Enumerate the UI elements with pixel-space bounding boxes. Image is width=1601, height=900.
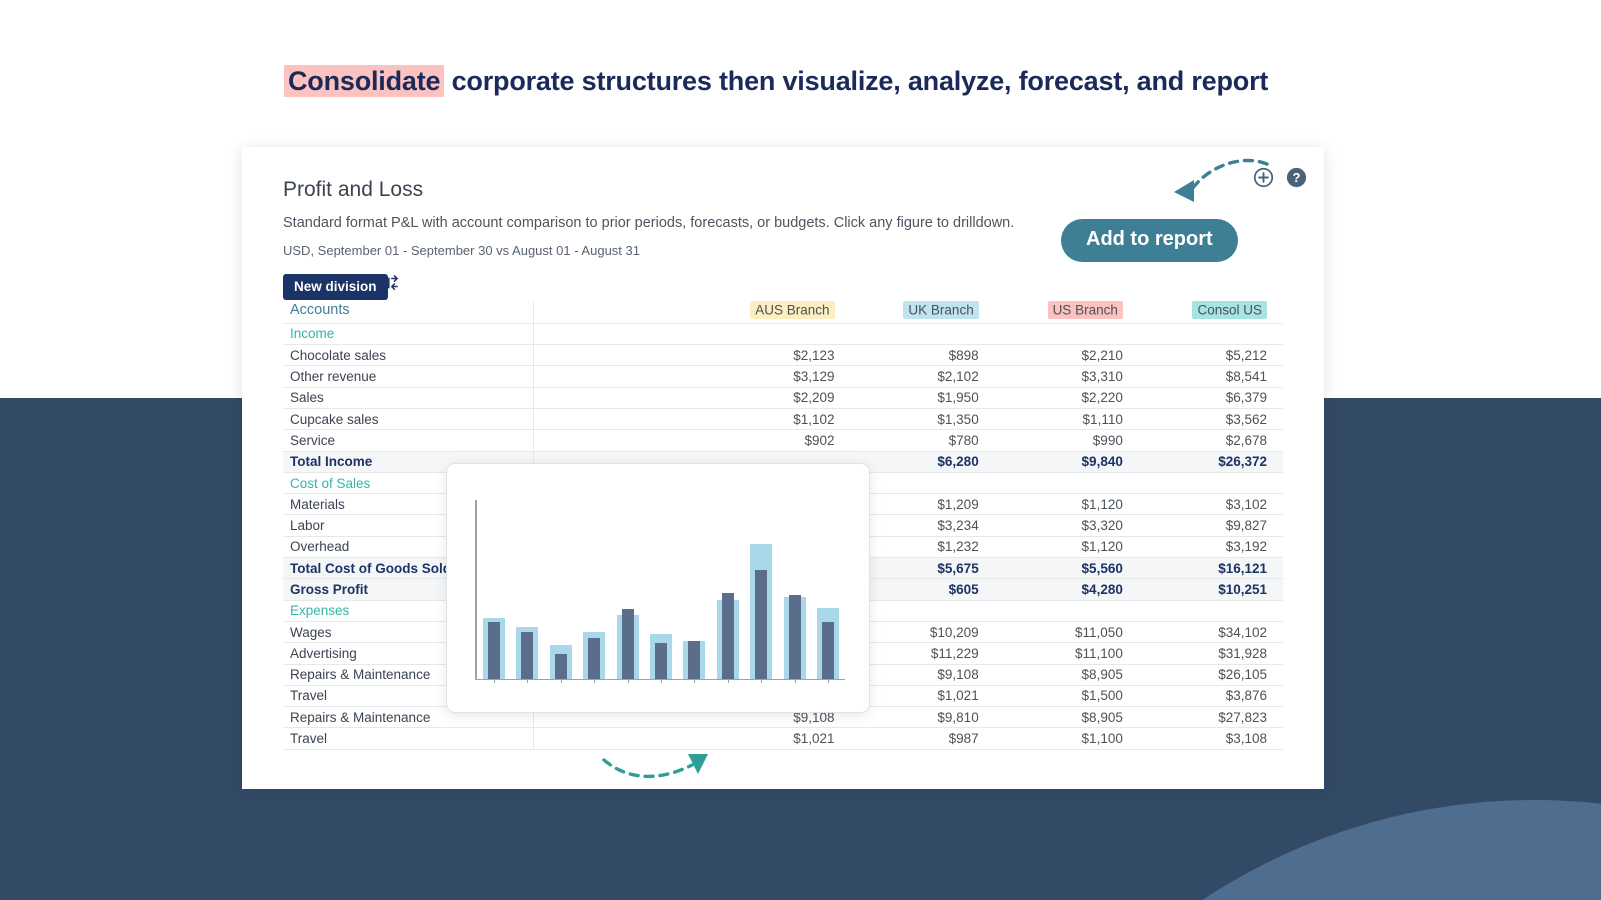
svg-text:?: ? (1292, 170, 1300, 185)
row-value-cell[interactable]: $11,050 (995, 621, 1139, 642)
chart-x-tick (561, 679, 562, 683)
row-value-cell[interactable]: $6,379 (1139, 387, 1283, 408)
row-value-cell[interactable]: $3,310 (995, 366, 1139, 387)
row-value-cell[interactable]: $2,102 (851, 366, 995, 387)
row-value-cell[interactable]: $1,102 (706, 408, 850, 429)
row-value-cell[interactable]: $3,102 (1139, 494, 1283, 515)
chart-bar-group (617, 501, 639, 679)
chart-bar-prior (555, 654, 567, 679)
page-root: Consolidate corporate structures then vi… (0, 0, 1601, 900)
row-label: Travel (283, 728, 533, 749)
table-row[interactable]: Income (283, 323, 1283, 344)
row-value-cell[interactable]: $5,560 (995, 558, 1139, 579)
chart-bar-group (683, 501, 705, 679)
row-value-cell[interactable]: $987 (851, 728, 995, 749)
row-value-cell[interactable]: $1,100 (995, 728, 1139, 749)
row-value-cell[interactable]: $1,120 (995, 494, 1139, 515)
row-value-cell[interactable]: $780 (851, 430, 995, 451)
chart-bars (477, 501, 845, 679)
row-spacer-cell (533, 728, 706, 749)
chart-bar-group (817, 501, 839, 679)
chart-bar-group (750, 501, 772, 679)
row-value-cell[interactable]: $2,678 (1139, 430, 1283, 451)
swap-columns-icon[interactable] (381, 275, 399, 291)
chart-x-tick (728, 679, 729, 683)
chart-bar-prior (588, 638, 600, 679)
page-title: Profit and Loss (283, 178, 423, 202)
row-value-cell[interactable] (1139, 472, 1283, 493)
row-value-cell[interactable]: $10,209 (851, 621, 995, 642)
row-value-cell[interactable]: $4,280 (995, 579, 1139, 600)
chart-x-tick (628, 679, 629, 683)
chart-bar-group (650, 501, 672, 679)
chart-bar-prior (755, 570, 767, 678)
row-value-cell[interactable] (851, 323, 995, 344)
chart-x-tick (694, 679, 695, 683)
row-value-cell[interactable] (706, 323, 850, 344)
row-spacer-cell (533, 430, 706, 451)
new-division-button[interactable]: New division (283, 274, 388, 300)
chart-bar-prior (488, 622, 500, 679)
row-value-cell[interactable]: $1,120 (995, 536, 1139, 557)
help-circle-icon[interactable]: ? (1286, 167, 1307, 188)
chart-bar-prior (688, 641, 700, 678)
chart-x-tick (661, 679, 662, 683)
row-value-cell[interactable]: $27,823 (1139, 707, 1283, 728)
row-value-cell[interactable]: $9,840 (995, 451, 1139, 472)
row-value-cell[interactable]: $16,121 (1139, 558, 1283, 579)
row-value-cell[interactable]: $6,280 (851, 451, 995, 472)
row-value-cell[interactable]: $5,675 (851, 558, 995, 579)
table-header-row: Accounts AUS Branch UK Branch US Branch … (283, 302, 1283, 323)
pointer-arrow-add-to-report (1122, 152, 1272, 212)
row-label: Chocolate sales (283, 345, 533, 366)
chart-x-axis (475, 679, 845, 681)
chart-bar-prior (655, 643, 667, 678)
row-value-cell[interactable]: $1,950 (851, 387, 995, 408)
row-value-cell[interactable]: $1,110 (995, 408, 1139, 429)
row-value-cell[interactable]: $1,232 (851, 536, 995, 557)
row-value-cell[interactable]: $10,251 (1139, 579, 1283, 600)
chart-bar-group (516, 501, 538, 679)
row-value-cell[interactable]: $898 (851, 345, 995, 366)
row-value-cell[interactable] (995, 472, 1139, 493)
plus-circle-icon[interactable] (1253, 167, 1274, 188)
row-value-cell[interactable]: $9,108 (851, 664, 995, 685)
row-value-cell[interactable]: $3,562 (1139, 408, 1283, 429)
column-header-accounts[interactable]: Accounts (283, 302, 533, 323)
chart-x-tick (594, 679, 595, 683)
row-value-cell[interactable]: $902 (706, 430, 850, 451)
row-value-cell[interactable]: $2,220 (995, 387, 1139, 408)
column-header-uk-branch[interactable]: UK Branch (851, 302, 995, 323)
row-value-cell[interactable] (851, 472, 995, 493)
row-value-cell[interactable]: $2,123 (706, 345, 850, 366)
row-value-cell[interactable]: $3,129 (706, 366, 850, 387)
chart-bar-prior (722, 593, 734, 678)
headline-rest: corporate structures then visualize, ana… (444, 66, 1268, 96)
row-spacer-cell (533, 345, 706, 366)
chart-bar-prior (789, 595, 801, 678)
row-value-cell[interactable]: $3,234 (851, 515, 995, 536)
chart-bar-prior (521, 632, 533, 678)
row-value-cell[interactable]: $1,021 (706, 728, 850, 749)
row-value-cell[interactable]: $3,108 (1139, 728, 1283, 749)
column-chip-us: US Branch (1048, 301, 1123, 319)
row-value-cell[interactable]: $26,372 (1139, 451, 1283, 472)
row-value-cell[interactable]: $11,100 (995, 643, 1139, 664)
column-header-consol-us[interactable]: Consol US (1139, 302, 1283, 323)
row-value-cell[interactable]: $1,500 (995, 685, 1139, 706)
pointer-arrow-expenses-to-chart (600, 752, 720, 789)
row-value-cell[interactable]: $26,105 (1139, 664, 1283, 685)
table-row[interactable]: Sales$2,209$1,950$2,220$6,379 (283, 387, 1283, 408)
table-head: Accounts AUS Branch UK Branch US Branch … (283, 302, 1283, 323)
row-value-cell[interactable]: $3,320 (995, 515, 1139, 536)
column-header-aus-branch[interactable]: AUS Branch (706, 302, 850, 323)
table-row[interactable]: Other revenue$3,129$2,102$3,310$8,541 (283, 366, 1283, 387)
chart-plot-area (475, 500, 845, 680)
row-value-cell[interactable]: $8,541 (1139, 366, 1283, 387)
chart-x-tick (795, 679, 796, 683)
row-value-cell[interactable]: $990 (995, 430, 1139, 451)
table-row[interactable]: Travel$1,021$987$1,100$3,108 (283, 728, 1283, 749)
row-value-cell[interactable]: $1,021 (851, 685, 995, 706)
row-value-cell[interactable]: $1,350 (851, 408, 995, 429)
row-value-cell[interactable] (851, 600, 995, 621)
chart-bar-group (583, 501, 605, 679)
chart-x-tick (494, 679, 495, 683)
chart-x-tick (527, 679, 528, 683)
card-period-meta: USD, September 01 - September 30 vs Augu… (283, 243, 640, 258)
chart-bar-group (717, 501, 739, 679)
row-label: Sales (283, 387, 533, 408)
add-to-report-button[interactable]: Add to report (1061, 219, 1238, 262)
chart-bar-prior (622, 609, 634, 678)
page-headline: Consolidate corporate structures then vi… (284, 66, 1268, 97)
row-value-cell[interactable] (995, 323, 1139, 344)
row-value-cell[interactable]: $3,876 (1139, 685, 1283, 706)
chart-bar-prior (822, 622, 834, 679)
row-value-cell[interactable]: $9,810 (851, 707, 995, 728)
row-value-cell[interactable] (995, 600, 1139, 621)
row-value-cell[interactable]: $2,210 (995, 345, 1139, 366)
row-spacer-cell (533, 323, 706, 344)
column-chip-uk: UK Branch (903, 301, 978, 319)
row-value-cell[interactable]: $605 (851, 579, 995, 600)
chart-bar-group (483, 501, 505, 679)
chart-x-tick (761, 679, 762, 683)
row-value-cell[interactable]: $1,209 (851, 494, 995, 515)
row-value-cell[interactable]: $34,102 (1139, 621, 1283, 642)
column-chip-aus: AUS Branch (750, 301, 834, 319)
row-spacer-cell (533, 387, 706, 408)
row-value-cell[interactable]: $2,209 (706, 387, 850, 408)
column-chip-consol: Consol US (1192, 301, 1267, 319)
row-label: Income (283, 323, 533, 344)
chart-bar-group (550, 501, 572, 679)
row-value-cell[interactable]: $8,905 (995, 707, 1139, 728)
row-value-cell[interactable]: $11,229 (851, 643, 995, 664)
row-value-cell[interactable]: $31,928 (1139, 643, 1283, 664)
table-row[interactable]: Service$902$780$990$2,678 (283, 430, 1283, 451)
row-value-cell[interactable]: $3,192 (1139, 536, 1283, 557)
row-value-cell[interactable] (1139, 323, 1283, 344)
table-row[interactable]: Cupcake sales$1,102$1,350$1,110$3,562 (283, 408, 1283, 429)
chart-popup (446, 463, 870, 713)
headline-highlight: Consolidate (284, 65, 444, 97)
card-subtitle: Standard format P&L with account compari… (283, 215, 1014, 231)
column-header-spacer (533, 302, 706, 323)
row-value-cell[interactable]: $8,905 (995, 664, 1139, 685)
row-value-cell[interactable] (1139, 600, 1283, 621)
row-spacer-cell (533, 366, 706, 387)
chart-bar-group (784, 501, 806, 679)
row-value-cell[interactable]: $5,212 (1139, 345, 1283, 366)
table-row[interactable]: Chocolate sales$2,123$898$2,210$5,212 (283, 345, 1283, 366)
row-label: Other revenue (283, 366, 533, 387)
row-spacer-cell (533, 408, 706, 429)
column-header-us-branch[interactable]: US Branch (995, 302, 1139, 323)
row-label: Cupcake sales (283, 408, 533, 429)
row-label: Service (283, 430, 533, 451)
chart-x-tick (828, 679, 829, 683)
row-value-cell[interactable]: $9,827 (1139, 515, 1283, 536)
